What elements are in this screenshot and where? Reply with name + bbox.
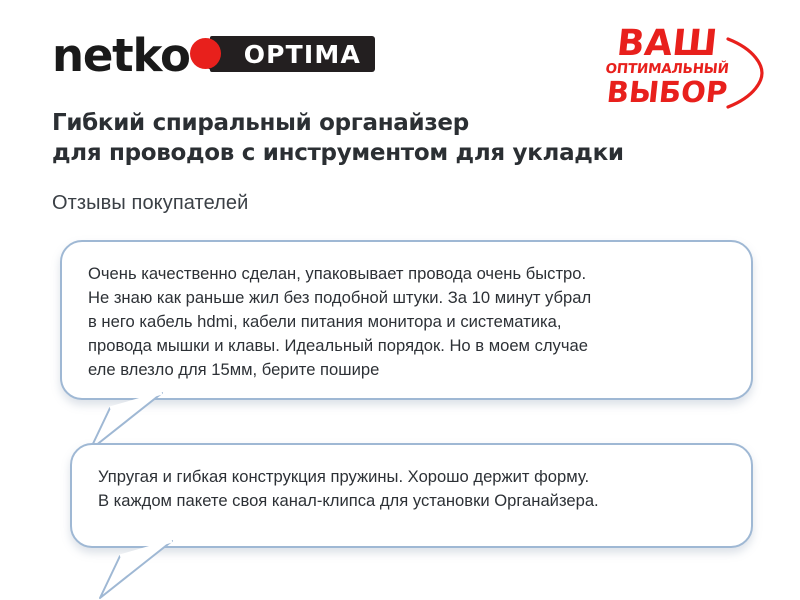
brand-logo: netko OPTIMA [52, 31, 375, 77]
review-1-line-3: в него кабель hdmi, кабели питания монит… [88, 310, 725, 334]
page-title-line-1: Гибкий спиральный органайзер [52, 108, 752, 138]
red-arc-icon [722, 36, 766, 110]
product-info-page: netko OPTIMA ВАШ ОПТИМАЛЬНЫЙ ВЫБОР Гибки… [0, 0, 800, 600]
review-bubble-2-tail [98, 540, 176, 600]
review-text-1: Очень качественно сделан, упаковывает пр… [62, 242, 751, 399]
review-bubble-1: Очень качественно сделан, упаковывает пр… [60, 240, 753, 400]
product-line-label: OPTIMA [244, 42, 361, 67]
review-1-line-5: еле влезло для 15мм, берите пошире [88, 358, 725, 382]
your-best-choice-badge: ВАШ ОПТИМАЛЬНЫЙ ВЫБОР [592, 22, 772, 114]
page-header: netko OPTIMA ВАШ ОПТИМАЛЬНЫЙ ВЫБОР [0, 0, 800, 110]
choice-badge-text: ВАШ ОПТИМАЛЬНЫЙ ВЫБОР [600, 26, 734, 107]
section-heading-reviews: Отзывы покупателей [52, 192, 248, 215]
review-1-line-2: Не знаю как раньше жил без подобной штук… [88, 286, 725, 310]
brand-red-dot-icon [188, 31, 234, 77]
review-1-line-1: Очень качественно сделан, упаковывает пр… [88, 262, 725, 286]
product-line-badge: OPTIMA [210, 36, 375, 72]
brand-wordmark: netko [52, 33, 190, 78]
choice-line-1: ВАШ [598, 26, 736, 61]
review-text-2: Упругая и гибкая конструкция пружины. Хо… [72, 445, 751, 531]
review-1-line-4: провода мышки и клавы. Идеальный порядок… [88, 334, 725, 358]
review-2-line-1: Упругая и гибкая конструкция пружины. Хо… [98, 465, 725, 489]
review-bubble-2: Упругая и гибкая конструкция пружины. Хо… [70, 443, 753, 548]
page-title-line-2: для проводов с инструментом для укладки [52, 138, 752, 168]
review-2-line-2: В каждом пакете своя канал-клипса для ус… [98, 489, 725, 513]
page-title: Гибкий спиральный органайзер для проводо… [52, 108, 752, 169]
choice-line-3: ВЫБОР [598, 78, 735, 107]
